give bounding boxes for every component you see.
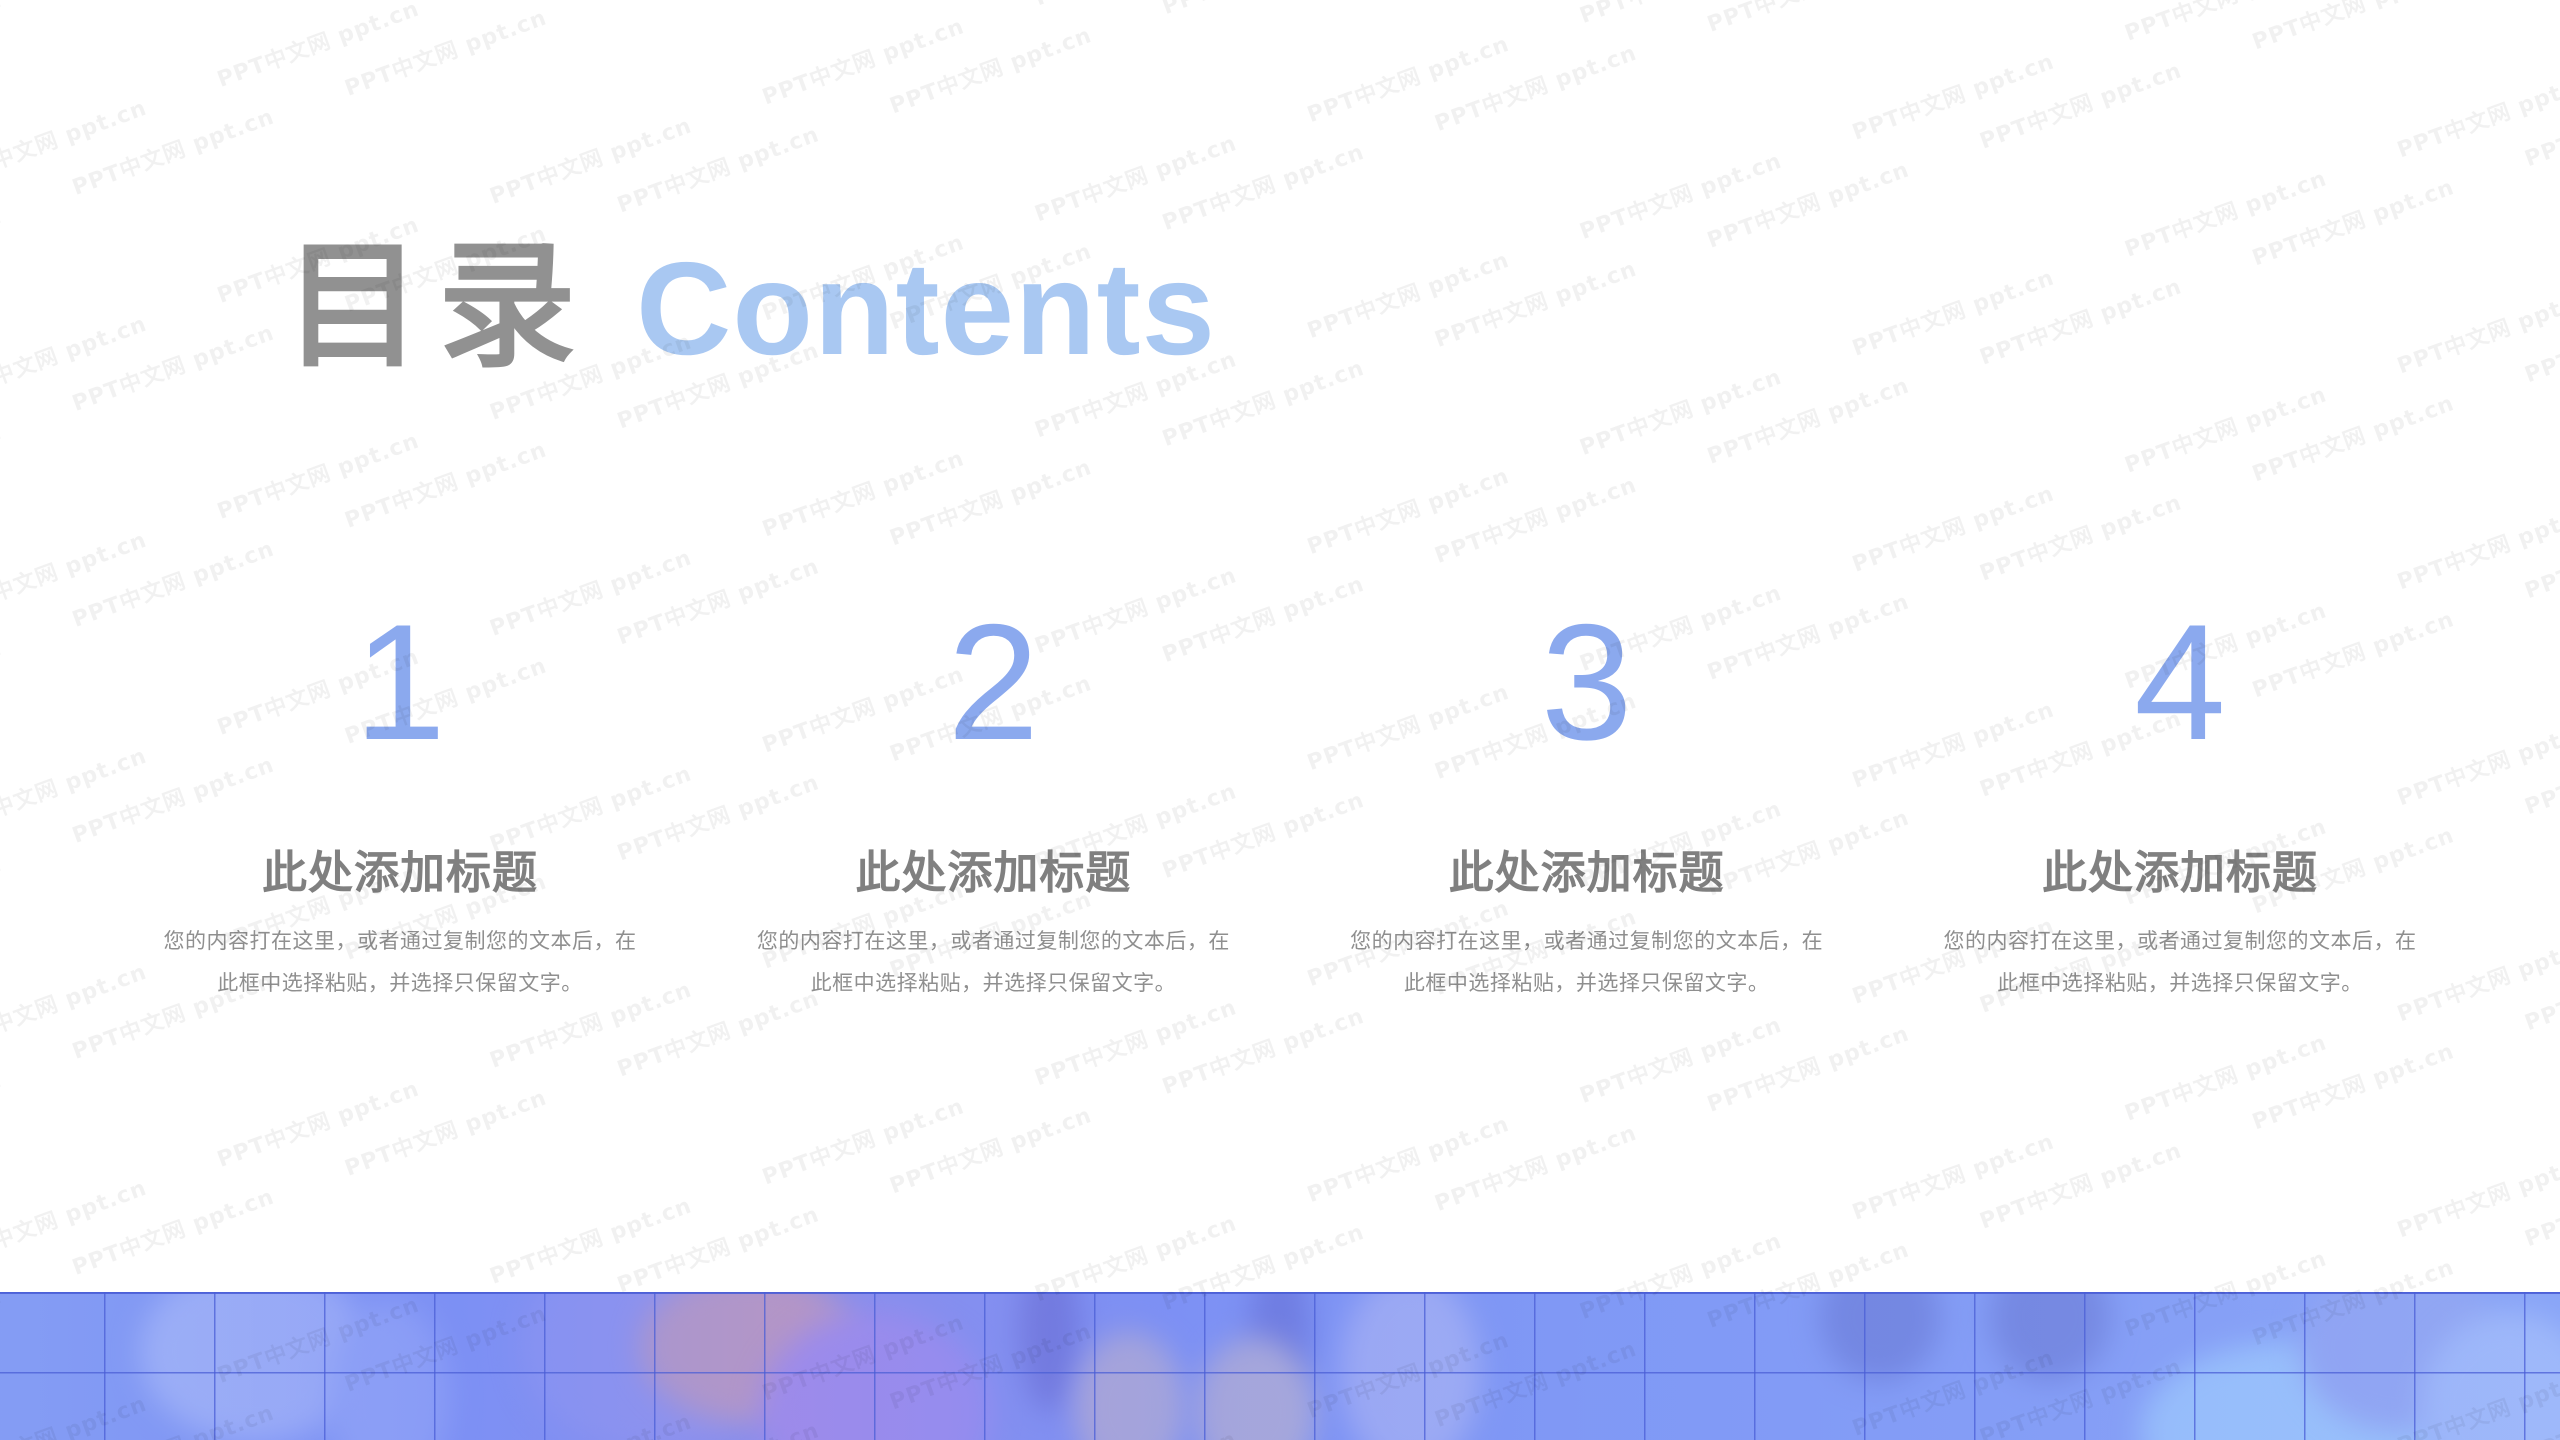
watermark-text: PPT中文网 ppt.cn [1030,0,1313,12]
watermark-text: PPT中文网 ppt.cn [2520,260,2560,389]
watermark-text: PPT中文网 ppt.cn [1847,449,2130,578]
watermark-text: PPT中文网 ppt.cn [1157,0,1440,21]
watermark-text: PPT中文网 ppt.cn [1847,17,2130,146]
watermark-text: PPT中文网 ppt.cn [885,1071,1168,1200]
watermark-text: PPT中文网 ppt.cn [1575,333,1858,462]
watermark-row: PPT中文网 ppt.cnPPT中文网 ppt.cnPPT中文网 ppt.cnP… [0,0,2560,121]
watermark-text: PPT中文网 ppt.cn [0,604,78,733]
item-body-1: 您的内容打在这里，或者通过复制您的文本后，在此框中选择粘贴，并选择只保留文字。 [160,920,640,1004]
watermark-text: PPT中文网 ppt.cn [1975,242,2258,371]
watermark-text: PPT中文网 ppt.cn [1157,108,1440,237]
watermark-text: PPT中文网 ppt.cn [2247,359,2530,488]
watermark-text: PPT中文网 ppt.cn [0,172,78,301]
watermark-text: PPT中文网 ppt.cn [885,423,1168,552]
watermark-text: PPT中文网 ppt.cn [67,1153,350,1282]
watermark-text: PPT中文网 ppt.cn [612,0,895,3]
watermark-text: PPT中文网 ppt.cn [757,414,1040,543]
watermark-text: PPT中文网 ppt.cn [1030,99,1313,228]
watermark-text: PPT中文网 ppt.cn [1430,9,1713,138]
watermark-text: PPT中文网 ppt.cn [1302,216,1585,345]
watermark-row: PPT中文网 ppt.cnPPT中文网 ppt.cnPPT中文网 ppt.cnP… [0,0,2560,13]
watermark-text: PPT中文网 ppt.cn [2247,143,2530,272]
item-body-2: 您的内容打在这里，或者通过复制您的文本后，在此框中选择粘贴，并选择只保留文字。 [753,920,1233,1004]
watermark-text: PPT中文网 ppt.cn [212,0,495,94]
contents-item-3[interactable]: 3 此处添加标题 您的内容打在这里，或者通过复制您的文本后，在此框中选择粘贴，并… [1307,600,1867,1004]
watermark-text: PPT中文网 ppt.cn [340,1053,623,1182]
watermark-row: PPT中文网 ppt.cnPPT中文网 ppt.cnPPT中文网 ppt.cnP… [0,0,2560,229]
item-number-2: 2 [713,600,1273,780]
watermark-text: PPT中文网 ppt.cn [1847,1097,2130,1226]
watermark-text: PPT中文网 ppt.cn [1302,0,1585,129]
watermark-text: PPT中文网 ppt.cn [485,1161,768,1290]
watermark-text: PPT中文网 ppt.cn [2520,908,2560,1037]
watermark-text: PPT中文网 ppt.cn [0,388,78,517]
watermark-text: PPT中文网 ppt.cn [1430,441,1713,570]
watermark-text: PPT中文网 ppt.cn [0,0,78,85]
item-number-3: 3 [1307,600,1867,780]
watermark-text: PPT中文网 ppt.cn [212,1045,495,1174]
item-body-4: 您的内容打在这里，或者通过复制您的文本后，在此框中选择粘贴，并选择只保留文字。 [1940,920,2420,1004]
page-title-chinese: 目录 [284,238,592,376]
item-heading-4: 此处添加标题 [1900,846,2460,900]
slide-contents-page: 目录 Contents 1 此处添加标题 您的内容打在这里，或者通过复制您的文本… [0,0,2560,1440]
watermark-text: PPT中文网 ppt.cn [1975,1106,2258,1235]
watermark-text: PPT中文网 ppt.cn [1702,0,1985,39]
watermark-text: PPT中文网 ppt.cn [2392,467,2560,596]
watermark-text: PPT中文网 ppt.cn [1575,0,1858,30]
watermark-text: PPT中文网 ppt.cn [885,0,1168,120]
watermark-text: PPT中文网 ppt.cn [612,90,895,219]
watermark-text: PPT中文网 ppt.cn [757,0,1040,111]
watermark-text: PPT中文网 ppt.cn [2120,350,2403,479]
item-heading-3: 此处添加标题 [1307,846,1867,900]
watermark-text: PPT中文网 ppt.cn [67,73,350,202]
watermark-text: PPT中文网 ppt.cn [1702,125,1985,254]
watermark-text: PPT中文网 ppt.cn [1575,117,1858,246]
item-number-4: 4 [1900,600,2460,780]
watermark-text: PPT中文网 ppt.cn [485,81,768,210]
watermark-text: PPT中文网 ppt.cn [1847,233,2130,362]
watermark-text: PPT中文网 ppt.cn [2247,0,2530,56]
watermark-text: PPT中文网 ppt.cn [1702,341,1985,470]
watermark-text: PPT中文网 ppt.cn [1975,26,2258,155]
watermark-text: PPT中文网 ppt.cn [2392,1115,2560,1244]
band-top-rule [0,1292,2560,1294]
watermark-text: PPT中文网 ppt.cn [2520,692,2560,821]
watermark-text: PPT中文网 ppt.cn [2120,0,2403,48]
watermark-text: PPT中文网 ppt.cn [2120,134,2403,263]
watermark-text: PPT中文网 ppt.cn [1975,458,2258,587]
watermark-text: PPT中文网 ppt.cn [2520,1124,2560,1253]
band-grid-overlay [0,1292,2560,1440]
watermark-text: PPT中文网 ppt.cn [1302,432,1585,561]
contents-item-1[interactable]: 1 此处添加标题 您的内容打在这里，或者通过复制您的文本后，在此框中选择粘贴，并… [120,600,680,1004]
contents-item-4[interactable]: 4 此处添加标题 您的内容打在这里，或者通过复制您的文本后，在此框中选择粘贴，并… [1900,600,2460,1004]
watermark-text: PPT中文网 ppt.cn [0,64,223,193]
watermark-text: PPT中文网 ppt.cn [1430,225,1713,354]
item-body-3: 您的内容打在这里，或者通过复制您的文本后，在此框中选择粘贴，并选择只保留文字。 [1347,920,1827,1004]
watermark-text: PPT中文网 ppt.cn [2520,476,2560,605]
watermark-text: PPT中文网 ppt.cn [1430,1089,1713,1218]
item-heading-1: 此处添加标题 [120,846,680,900]
watermark-text: PPT中文网 ppt.cn [0,820,78,949]
watermark-text: PPT中文网 ppt.cn [212,397,495,526]
bottom-photo-band [0,1292,2560,1440]
watermark-text: PPT中文网 ppt.cn [0,1036,78,1165]
watermark-text: PPT中文网 ppt.cn [612,1170,895,1299]
watermark-text: PPT中文网 ppt.cn [2392,35,2560,164]
watermark-text: PPT中文网 ppt.cn [1702,989,1985,1118]
watermark-text: PPT中文网 ppt.cn [2120,998,2403,1127]
watermark-text: PPT中文网 ppt.cn [0,280,223,409]
contents-columns: 1 此处添加标题 您的内容打在这里，或者通过复制您的文本后，在此框中选择粘贴，并… [120,600,2460,1004]
watermark-text: PPT中文网 ppt.cn [2520,44,2560,173]
watermark-text: PPT中文网 ppt.cn [340,405,623,534]
contents-item-2[interactable]: 2 此处添加标题 您的内容打在这里，或者通过复制您的文本后，在此框中选择粘贴，并… [713,600,1273,1004]
watermark-text: PPT中文网 ppt.cn [1030,1179,1313,1308]
item-heading-2: 此处添加标题 [713,846,1273,900]
page-title-english: Contents [636,243,1216,375]
item-number-1: 1 [120,600,680,780]
watermark-text: PPT中文网 ppt.cn [2392,251,2560,380]
watermark-text: PPT中文网 ppt.cn [1302,1080,1585,1209]
page-title: 目录 Contents [284,238,1216,376]
watermark-text: PPT中文网 ppt.cn [757,1062,1040,1191]
watermark-text: PPT中文网 ppt.cn [0,1144,223,1273]
watermark-text: PPT中文网 ppt.cn [340,0,623,103]
watermark-text: PPT中文网 ppt.cn [2247,1007,2530,1136]
